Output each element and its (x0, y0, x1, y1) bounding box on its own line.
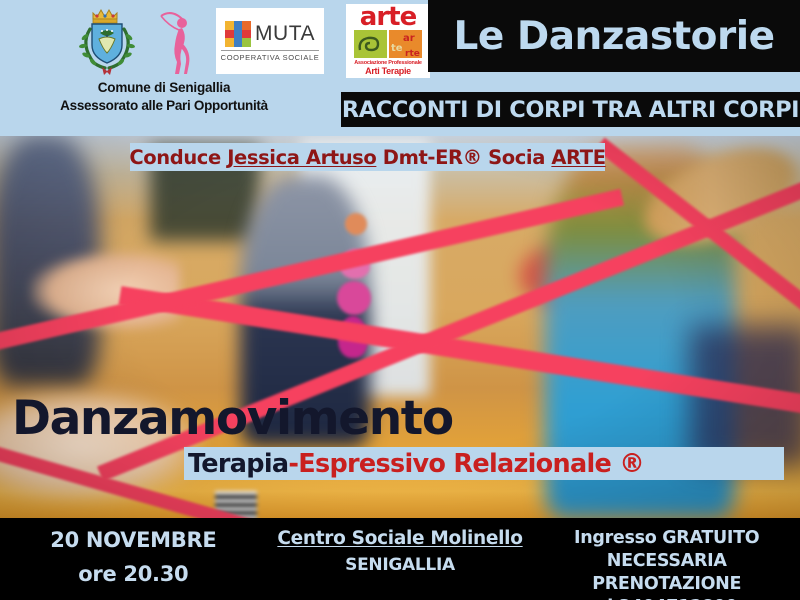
header-band: MUTA COOPERATIVA SOCIALE arte ar te rte (0, 0, 800, 136)
poster-title: Le Danzastorie (453, 14, 774, 59)
muta-logo: MUTA COOPERATIVA SOCIALE (216, 8, 324, 74)
facilitator-text: Conduce Jessica Artuso Dmt-ER® Socia ART… (129, 146, 605, 169)
comune-department: Assessorato alle Pari Opportunità (14, 98, 314, 113)
comune-text-block: Comune di Senigallia Assessorato alle Pa… (14, 80, 314, 113)
poster-title-box: Le Danzastorie (428, 0, 800, 72)
main-title: Danzamovimento (12, 394, 453, 444)
footer-venue-column: Centro Sociale Molinello SENIGALLIA (267, 518, 534, 577)
event-time: ore 20.30 (0, 561, 267, 589)
venue-name: Centro Sociale Molinello (267, 527, 534, 551)
svg-text:rte: rte (405, 49, 420, 58)
main-subtitle-dark: Terapia (188, 449, 288, 479)
poster-subtitle: RACCONTI DI CORPI TRA ALTRI CORPI (342, 97, 799, 123)
booking-phone: al 3404712899 (533, 596, 800, 600)
facilitator-credentials: Dmt-ER® Socia (376, 146, 551, 169)
muta-cross-icon (225, 21, 251, 47)
poster-subtitle-box: RACCONTI DI CORPI TRA ALTRI CORPI (341, 92, 800, 127)
pari-opportunita-figure-icon (155, 6, 199, 76)
poster-root: MUTA COOPERATIVA SOCIALE arte ar te rte (0, 0, 800, 600)
arte-wordmark: arte (360, 5, 416, 29)
footer-band: 20 NOVEMBRE ore 20.30 Centro Sociale Mol… (0, 518, 800, 600)
arte-squares-icon: ar te rte (354, 30, 422, 58)
arte-logo: arte ar te rte Associazione Professional… (346, 4, 430, 78)
facilitator-prefix: Conduce (129, 146, 227, 169)
facilitator-name: Jessica Artuso (227, 146, 376, 169)
muta-wordmark: MUTA (255, 22, 315, 46)
entry-info: Ingresso GRATUITO (533, 527, 800, 550)
svg-text:te: te (391, 43, 403, 54)
facilitator-association: ARTE (551, 146, 605, 169)
facilitator-band: Conduce Jessica Artuso Dmt-ER® Socia ART… (130, 143, 605, 171)
comune-di-senigallia-crest-icon (74, 5, 140, 77)
comune-name: Comune di Senigallia (14, 80, 314, 95)
muta-subtitle: COOPERATIVA SOCIALE (221, 50, 320, 62)
main-subtitle: Terapia-Espressivo Relazionale ® (184, 449, 644, 479)
footer-date-column: 20 NOVEMBRE ore 20.30 (0, 518, 267, 588)
main-subtitle-band: Terapia-Espressivo Relazionale ® (184, 447, 784, 480)
event-date: 20 NOVEMBRE (0, 527, 267, 555)
arte-subtitle-line2: Arti Terapie (365, 66, 411, 76)
svg-text:ar: ar (403, 33, 415, 44)
booking-info: NECESSARIA PRENOTAZIONE (533, 550, 800, 596)
footer-info-column: Ingresso GRATUITO NECESSARIA PRENOTAZION… (533, 518, 800, 600)
main-subtitle-red: -Espressivo Relazionale ® (288, 449, 644, 479)
venue-city: SENIGALLIA (267, 554, 534, 576)
